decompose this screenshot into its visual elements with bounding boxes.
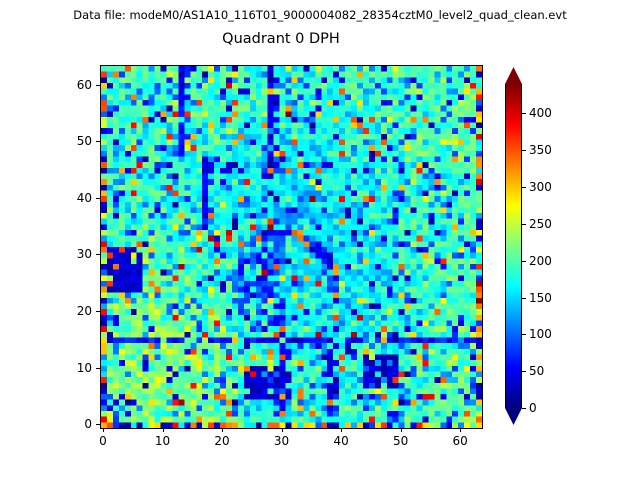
x-tick-mark — [163, 428, 164, 432]
y-tick-label: 10 — [52, 361, 92, 375]
x-tick-mark — [282, 428, 283, 432]
x-tick-mark — [401, 428, 402, 432]
colorbar-tick-mark — [522, 261, 526, 262]
colorbar-tick-mark — [522, 334, 526, 335]
colorbar-tick-mark — [522, 113, 526, 114]
y-tick-mark — [96, 198, 100, 199]
y-tick-label: 30 — [52, 247, 92, 261]
colorbar-tick-mark — [522, 298, 526, 299]
x-tick-label: 50 — [393, 434, 408, 448]
x-tick-mark — [103, 428, 104, 432]
colorbar-tick-label: 50 — [529, 364, 544, 378]
colorbar-tick-label: 250 — [529, 217, 552, 231]
x-tick-label: 40 — [333, 434, 348, 448]
colorbar-tick-label: 100 — [529, 327, 552, 341]
colorbar-extend-bottom-arrow-icon — [505, 408, 522, 425]
y-tick-mark — [96, 141, 100, 142]
page-title: Quadrant 0 DPH — [0, 31, 562, 47]
colorbar-tick-label: 400 — [529, 106, 552, 120]
matplotlib-figure: Data file: modeM0/AS1A10_116T01_90000040… — [0, 0, 640, 480]
detector-heatmap-image — [101, 66, 482, 428]
x-tick-label: 30 — [274, 434, 289, 448]
datafile-label: Data file: modeM0/AS1A10_116T01_90000040… — [0, 8, 640, 22]
colorbar-tick-mark — [522, 187, 526, 188]
y-tick-label: 20 — [52, 304, 92, 318]
x-tick-label: 60 — [453, 434, 468, 448]
y-tick-mark — [96, 311, 100, 312]
y-tick-label: 60 — [52, 78, 92, 92]
y-tick-label: 50 — [52, 134, 92, 148]
colorbar-extend-top-arrow-icon — [505, 67, 522, 84]
y-tick-mark — [96, 254, 100, 255]
colorbar: 050100150200250300350400 — [505, 84, 522, 408]
colorbar-tick-mark — [522, 150, 526, 151]
colorbar-tick-label: 0 — [529, 401, 537, 415]
colorbar-tick-mark — [522, 371, 526, 372]
y-tick-label: 40 — [52, 191, 92, 205]
colorbar-tick-label: 350 — [529, 143, 552, 157]
colorbar-tick-mark — [522, 224, 526, 225]
x-tick-label: 10 — [155, 434, 170, 448]
x-tick-label: 20 — [214, 434, 229, 448]
colorbar-tick-mark — [522, 408, 526, 409]
y-tick-mark — [96, 85, 100, 86]
colorbar-tick-label: 200 — [529, 254, 552, 268]
x-tick-mark — [460, 428, 461, 432]
x-tick-label: 0 — [99, 434, 107, 448]
x-tick-mark — [341, 428, 342, 432]
y-tick-label: 0 — [52, 417, 92, 431]
heatmap-axes — [100, 65, 483, 429]
colorbar-gradient — [505, 84, 522, 408]
colorbar-tick-label: 150 — [529, 291, 552, 305]
y-tick-mark — [96, 368, 100, 369]
colorbar-tick-label: 300 — [529, 180, 552, 194]
x-tick-mark — [222, 428, 223, 432]
y-tick-mark — [96, 424, 100, 425]
